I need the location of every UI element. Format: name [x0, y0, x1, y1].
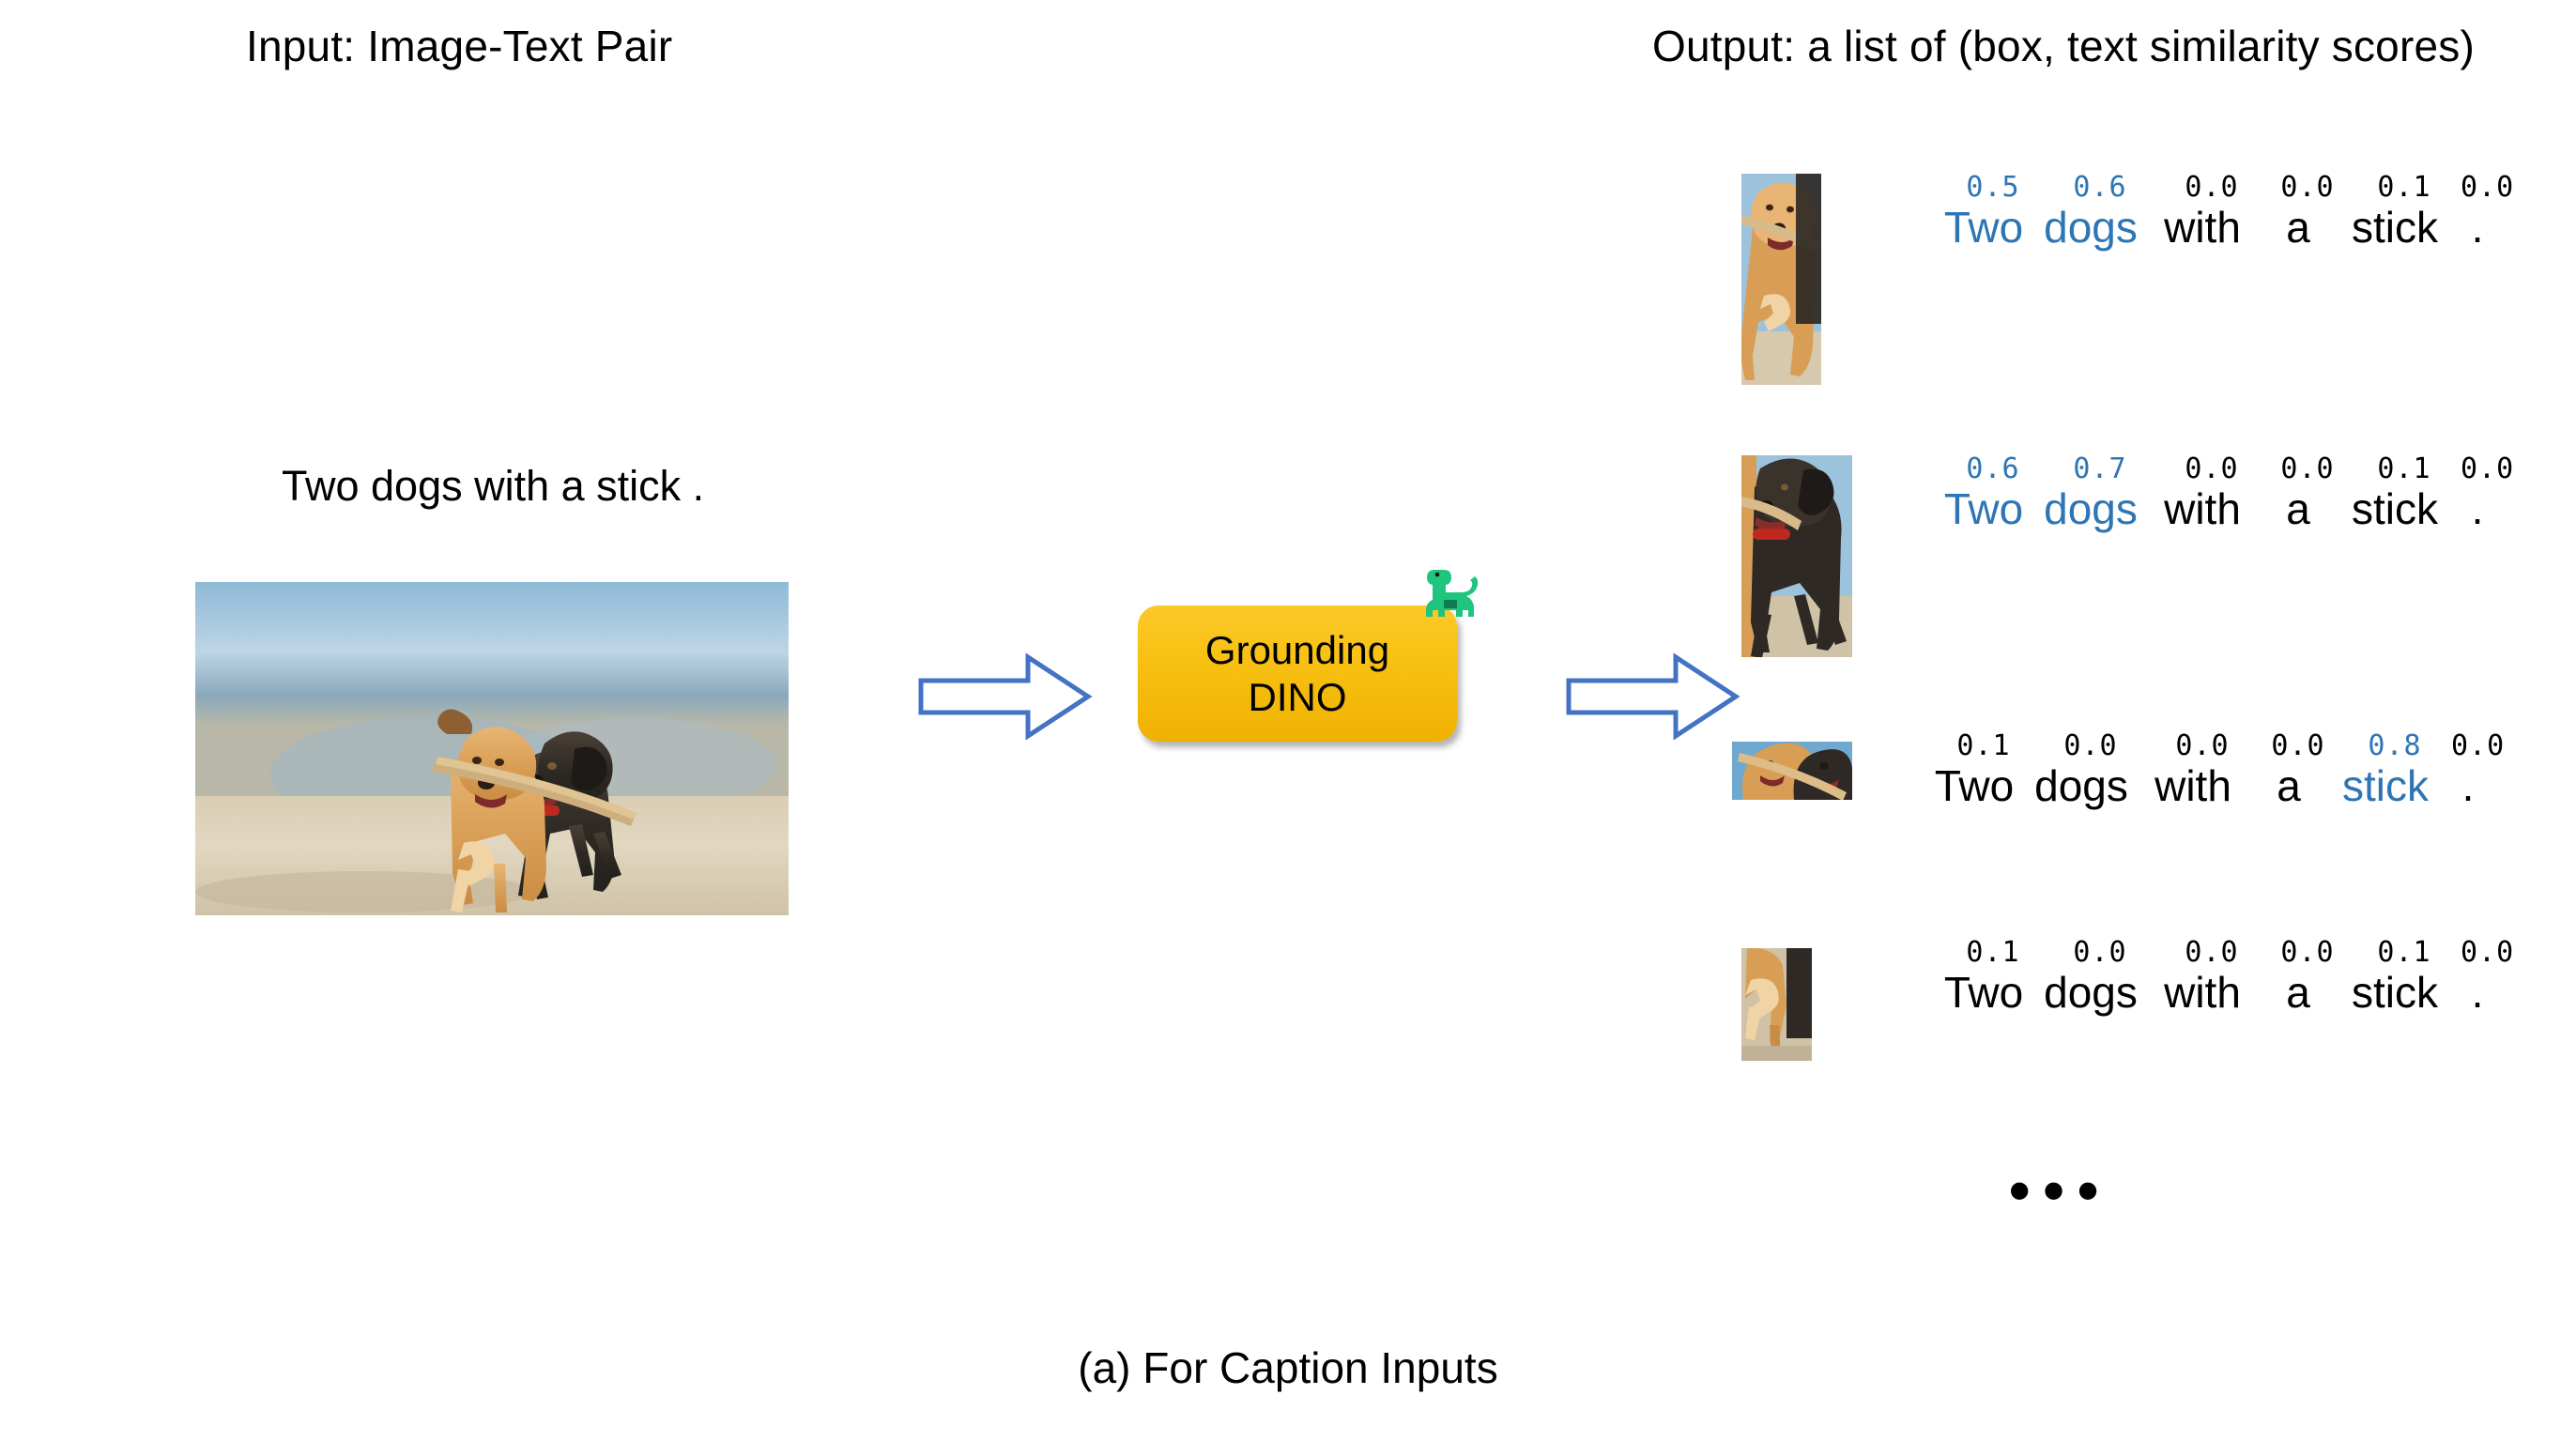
arrow-model-to-output-icon	[1563, 650, 1741, 743]
output-similarity-scores: 0.50.60.00.00.10.0	[1942, 171, 2513, 204]
output-token-row: Twodogswithastick.	[1924, 760, 2494, 811]
output-similarity-scores: 0.10.00.00.00.10.0	[1942, 936, 2513, 969]
input-image	[195, 582, 789, 915]
model-name-line2: DINO	[1249, 674, 1347, 721]
figure-caption: (a) For Caption Inputs	[0, 1342, 2576, 1393]
output-box-thumbnail[interactable]	[1732, 742, 1852, 800]
output-box-thumbnail[interactable]	[1741, 948, 1812, 1061]
output-token-row: Twodogswithastick.	[1933, 967, 2504, 1018]
output-token-row: Twodogswithastick.	[1933, 202, 2504, 253]
model-box-body[interactable]: Grounding DINO	[1138, 606, 1457, 742]
grounding-dino-block[interactable]: Grounding DINO	[1138, 606, 1457, 742]
model-name-line1: Grounding	[1205, 627, 1389, 674]
output-token-row: Twodogswithastick.	[1933, 483, 2504, 534]
output-similarity-scores: 0.10.00.00.00.80.0	[1933, 729, 2504, 762]
output-box-thumbnail[interactable]	[1741, 455, 1852, 657]
input-caption-text: Two dogs with a stick .	[282, 462, 704, 511]
output-section-title: Output: a list of (box, text similarity …	[1652, 21, 2475, 71]
dinosaur-icon	[1418, 562, 1481, 619]
more-results-ellipsis: •••	[2009, 1160, 2111, 1220]
output-box-thumbnail[interactable]	[1741, 174, 1821, 385]
output-similarity-scores: 0.60.70.00.00.10.0	[1942, 452, 2513, 485]
input-section-title: Input: Image-Text Pair	[246, 21, 672, 71]
arrow-input-to-model-icon	[915, 650, 1094, 743]
